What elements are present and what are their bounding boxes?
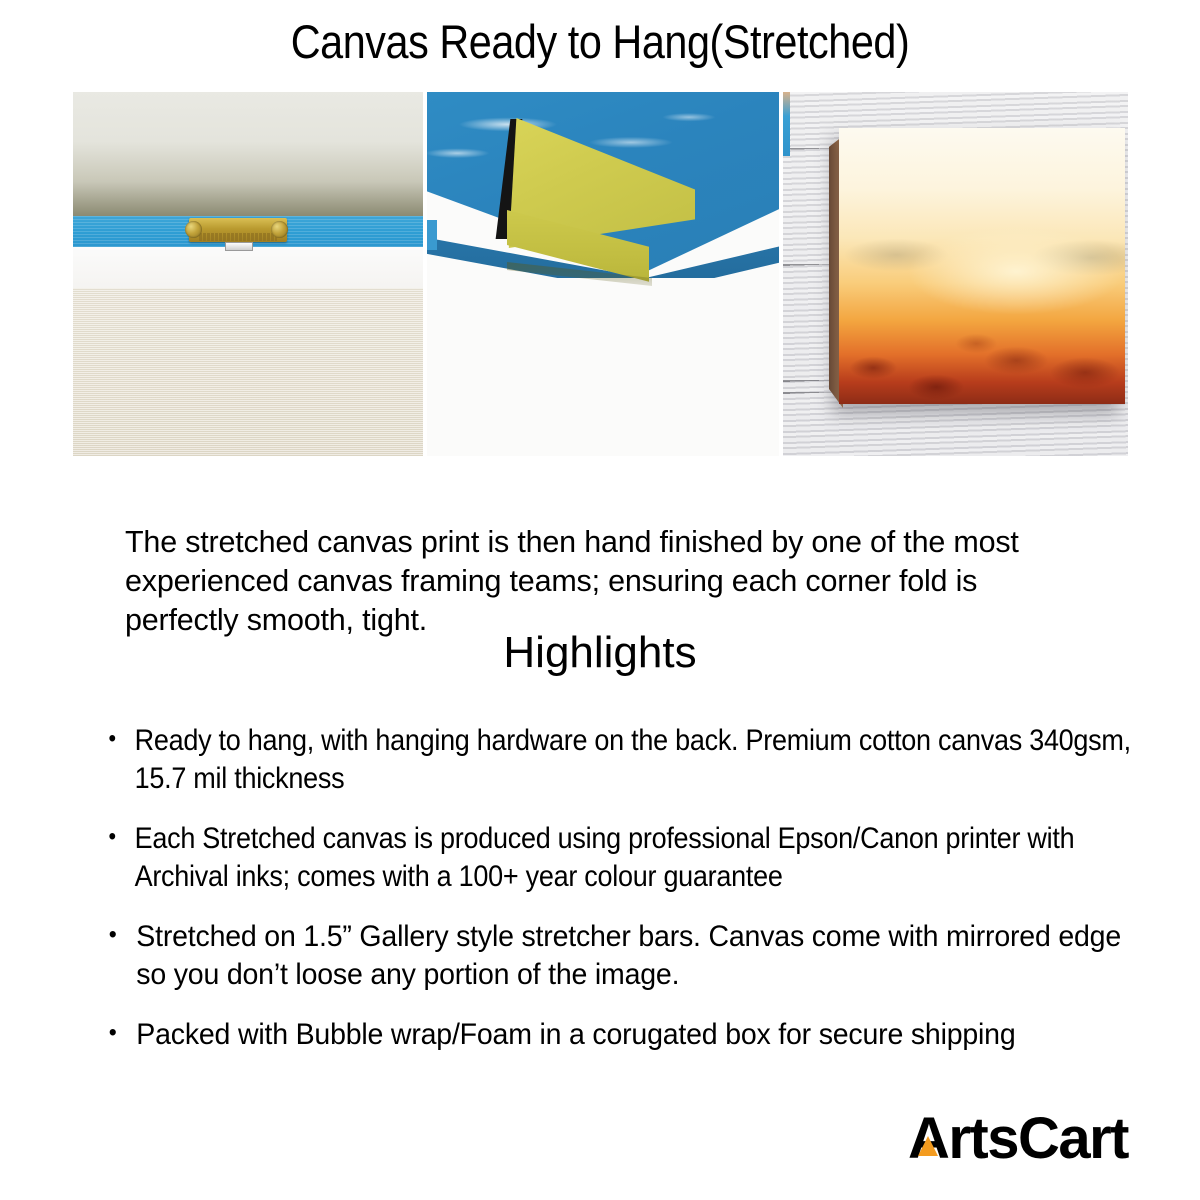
hanger-screw-right-icon <box>271 221 288 238</box>
canvas-left-sliver <box>427 220 437 250</box>
list-item: Each Stretched canvas is produced using … <box>104 820 1143 896</box>
product-photo-gallery <box>73 92 1128 456</box>
list-item: Packed with Bubble wrap/Foam in a coruga… <box>104 1016 1145 1054</box>
logo-letter-a: A <box>908 1110 948 1168</box>
hanger-tab <box>225 242 253 251</box>
intro-paragraph: The stretched canvas print is then hand … <box>125 523 1060 640</box>
adjacent-photo-sliver <box>783 92 790 156</box>
logo-wordmark: rtsCart <box>948 1110 1128 1168</box>
artscart-logo: A rtsCart <box>908 1110 1128 1168</box>
canvas-back-hanger-photo <box>73 92 423 456</box>
page-title: Canvas Ready to Hang(Stretched) <box>72 16 1128 68</box>
sunset-landscape-artwork <box>839 128 1125 404</box>
list-item: Ready to hang, with hanging hardware on … <box>104 722 1143 798</box>
hanger-screw-left-icon <box>185 221 202 238</box>
highlights-list: Ready to hang, with hanging hardware on … <box>104 722 1114 1076</box>
list-item: Stretched on 1.5” Gallery style stretche… <box>104 918 1145 994</box>
wall-background <box>73 92 423 216</box>
corner-fold-photo <box>427 92 779 456</box>
orange-triangle-icon <box>918 1136 938 1156</box>
hung-canvas-frame <box>839 128 1125 404</box>
canvas-fabric <box>73 288 423 456</box>
hung-canvas-photo <box>783 92 1128 456</box>
canvas-white-band <box>73 247 423 292</box>
highlights-heading: Highlights <box>0 628 1200 678</box>
